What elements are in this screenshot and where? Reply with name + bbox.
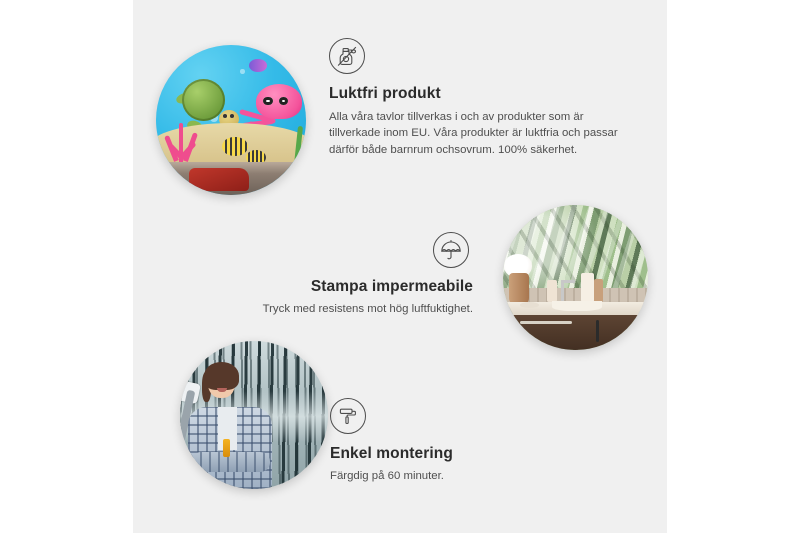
- turtle-shell: [182, 79, 225, 121]
- feature-description: Tryck med resistens mot hög luftfuktighe…: [153, 301, 473, 318]
- no-fragrance-icon: [329, 38, 365, 74]
- bubble-icon: [240, 69, 245, 74]
- feature-title: Luktfri produkt: [329, 85, 629, 104]
- wood-vanity-cabinet: [512, 315, 648, 350]
- feature-block-odourless: Luktfri produkt Alla våra tavlor tillver…: [329, 38, 629, 158]
- woman-figure: [186, 365, 278, 489]
- bathroom-leaf-wallpaper-photo: [503, 205, 648, 350]
- umbrella-icon: [433, 232, 469, 268]
- plaid-shirt: [188, 407, 272, 489]
- feature-description: Färgdig på 60 minuter.: [330, 468, 610, 485]
- feature-block-assembly: Enkel montering Färgdig på 60 minuter.: [330, 398, 610, 484]
- undersea-cartoon-mural-photo: [156, 45, 306, 195]
- purple-fish-icon: [249, 59, 267, 73]
- crossed-arms: [191, 452, 270, 472]
- bottle: [581, 273, 594, 302]
- sea-turtle-icon: [177, 75, 237, 129]
- feature-block-waterproof: Stampa impermeabile Tryck med resistens …: [153, 232, 473, 317]
- feature-title: Stampa impermeabile: [153, 278, 473, 297]
- infographic-canvas: Luktfri produkt Alla våra tavlor tillver…: [133, 0, 667, 533]
- faucet-icon: [561, 280, 564, 302]
- octopus-head: [256, 84, 302, 119]
- feature-title: Enkel montering: [330, 445, 610, 464]
- feature-description: Alla våra tavlor tillverkas i och av pro…: [329, 109, 621, 159]
- hair: [204, 362, 239, 389]
- sink-basin: [552, 301, 601, 311]
- striped-fish-icon: [222, 137, 248, 157]
- coral-icon: [165, 123, 210, 162]
- vase: [509, 273, 529, 305]
- bottle: [594, 279, 603, 302]
- hand-tool: [223, 439, 230, 456]
- bottle: [547, 280, 557, 302]
- room-foreground: [156, 162, 306, 195]
- soap-dish: [520, 302, 539, 308]
- paint-roller-icon: [330, 398, 366, 434]
- product-feature-infographic: Luktfri produkt Alla våra tavlor tillver…: [0, 0, 800, 533]
- woman-paint-roller-forest-photo: [180, 341, 328, 489]
